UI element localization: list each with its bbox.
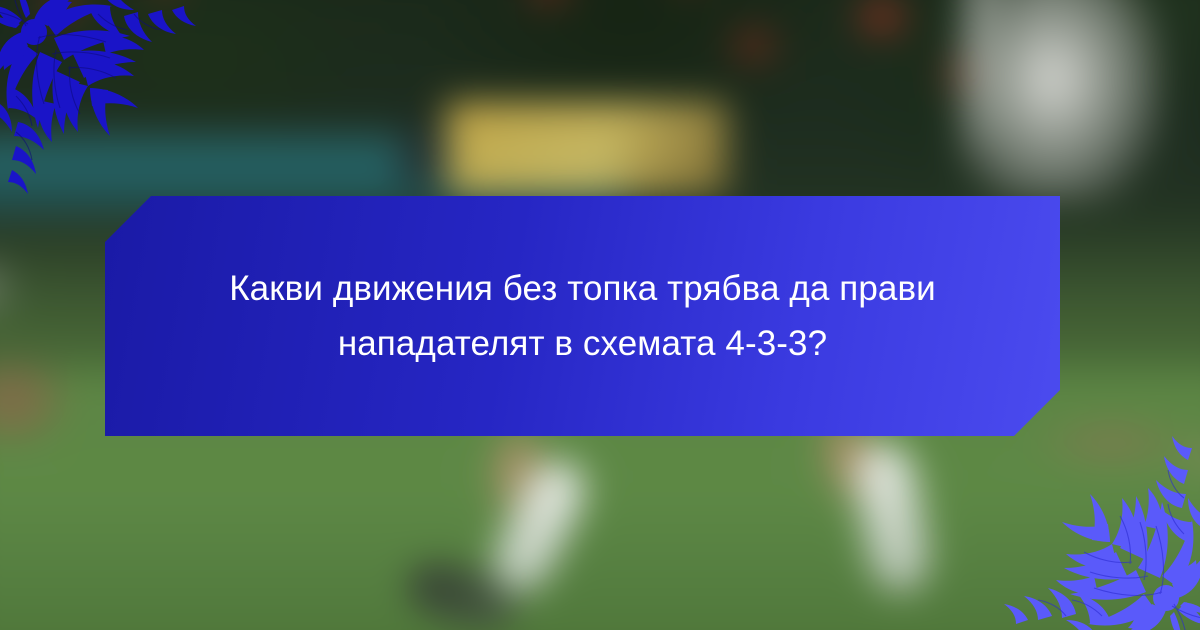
question-line-2: нападателят в схемата 4-3-3? (338, 324, 827, 363)
question-line-1: Какви движения без топка трябва да прави (229, 269, 936, 308)
quote-card: Какви движения без топка трябва да прави… (0, 0, 1200, 630)
question-text: Какви движения без топка трябва да прави… (169, 261, 996, 372)
question-banner: Какви движения без топка трябва да прави… (105, 196, 1060, 436)
